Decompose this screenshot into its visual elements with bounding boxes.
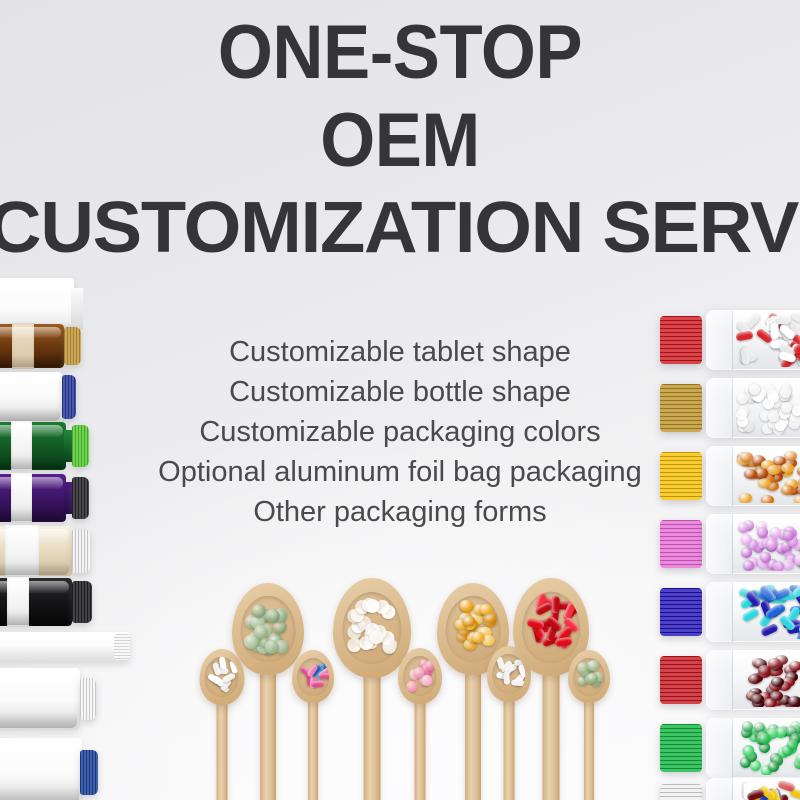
pill (319, 673, 329, 679)
pill (577, 662, 587, 672)
bottle-body (0, 422, 66, 470)
bottle-cap (72, 477, 89, 519)
pill (784, 451, 797, 461)
jar-contents (736, 585, 800, 639)
bottle-cap (72, 529, 90, 573)
jar-glass-body (706, 310, 800, 370)
bottle-body (0, 738, 82, 800)
left-bottle-amber-bottle-gold-cap (0, 324, 64, 368)
spoon-bowl (398, 648, 442, 704)
jar-cap (660, 316, 702, 364)
jar-neck (706, 650, 733, 710)
left-bottle-green-bottle-lime-cap (0, 422, 66, 470)
bottle-neck (71, 288, 83, 330)
right-jar-jar-pink-tablets (706, 514, 800, 574)
pill (742, 721, 753, 732)
jar-glass-body (706, 582, 800, 642)
pill (503, 672, 510, 685)
promotional-poster: ONE-STOP OEM CUSTOMIZATION SERVICE Custo… (0, 0, 800, 800)
bottle-label (11, 473, 31, 523)
pill (311, 681, 324, 688)
jar-cap (660, 520, 702, 568)
left-bottle-black-bottle-black-cap (0, 578, 72, 626)
pill (462, 616, 475, 627)
pill (758, 665, 771, 675)
spoon-well (342, 592, 401, 664)
jar-neck (706, 582, 733, 642)
spoon-handle (543, 666, 560, 800)
pill (741, 547, 752, 558)
pill (422, 675, 432, 685)
pill (775, 420, 786, 431)
bottle-cap (80, 750, 98, 795)
left-bottle-white-bottle-blue-cap (0, 372, 62, 422)
jar-glass-body (706, 378, 800, 438)
bottle-cap (72, 425, 89, 467)
pill (781, 402, 792, 413)
headline-line-1: ONE-STOP (28, 16, 772, 90)
spoon-mixed-capsules (292, 650, 334, 800)
jar-neck (706, 310, 733, 370)
pill (744, 469, 757, 479)
pill (781, 463, 794, 473)
jar-glass-body (706, 718, 800, 778)
jar-contents (736, 653, 800, 707)
pill (736, 330, 754, 341)
pill (588, 660, 598, 670)
left-bottle-white-tube-bottle (0, 632, 130, 662)
pill (771, 677, 784, 687)
right-jar-jar-mixed-capsules (706, 778, 800, 800)
pill (770, 322, 778, 339)
pill (788, 696, 800, 706)
pill (369, 630, 383, 644)
pill (737, 416, 748, 427)
pill (741, 347, 750, 365)
spoon-bowl (568, 650, 610, 703)
right-jar-jar-blue-cyan-capsules (706, 582, 800, 642)
spoon-handle (216, 695, 227, 800)
pill (768, 761, 779, 772)
right-jar-jar-red-white-capsules (706, 310, 800, 370)
jar-neck (706, 378, 733, 438)
pill (773, 561, 784, 571)
spoon-well (297, 657, 329, 695)
jar-contents (736, 721, 800, 775)
jar-cap (660, 656, 702, 704)
headline-line-3: CUSTOMIZATION SERVICE (0, 193, 800, 264)
pill (783, 559, 794, 570)
pill (741, 608, 760, 623)
pill (792, 405, 800, 416)
right-jar-jar-dark-red-softgels (706, 650, 800, 710)
bottle-label (12, 323, 34, 369)
pill (748, 674, 761, 684)
spoon-well (241, 596, 296, 662)
jar-contents (736, 517, 800, 571)
pill (770, 691, 783, 701)
spoon-well (403, 656, 436, 696)
pill (425, 660, 435, 670)
jar-glass-body (706, 778, 800, 800)
pill (738, 522, 749, 533)
jar-contents (736, 781, 800, 800)
jar-cap (660, 784, 702, 800)
pill (480, 604, 493, 615)
jar-neck (706, 446, 733, 506)
spoon-well (573, 657, 605, 695)
jar-glass-body (706, 446, 800, 506)
bottle-cap (72, 581, 92, 623)
jar-contents (736, 313, 800, 367)
jar-contents (736, 381, 800, 435)
pill (789, 418, 800, 429)
pill (382, 639, 396, 653)
jar-cap (660, 588, 702, 636)
jar-cap (660, 452, 702, 500)
right-jar-jar-amber-softgels (706, 446, 800, 506)
left-bottle-purple-bottle-black-cap (0, 474, 66, 522)
left-bottle-white-bottle-navy-cap (0, 738, 82, 800)
bottle-label (5, 525, 39, 577)
bottle-cap (64, 327, 81, 366)
bottle-cap (62, 375, 76, 419)
left-bottle-clear-bottle-granules (0, 526, 72, 576)
tube-body (0, 632, 130, 662)
spoon-handle (415, 694, 426, 800)
pill (382, 605, 396, 619)
right-jar-jar-white-tablets (706, 378, 800, 438)
spoon-pink-tablets (398, 648, 442, 800)
pill (414, 667, 424, 677)
pill (761, 495, 774, 503)
spoon-green-tablets-2 (568, 650, 610, 800)
right-jar-jar-green-tablets (706, 718, 800, 778)
bottle-body (0, 372, 62, 422)
pill (252, 603, 266, 617)
jar-cap (660, 724, 702, 772)
pill (743, 560, 754, 571)
pill (794, 495, 800, 503)
spoon-handle (465, 665, 481, 800)
jar-neck (706, 778, 733, 800)
pill (219, 657, 227, 669)
spoon-handle (260, 665, 276, 800)
pill (781, 485, 794, 495)
bottle-label (7, 577, 29, 627)
pill (796, 753, 800, 764)
pill (794, 554, 800, 565)
spoon-handle (308, 693, 318, 800)
pill (552, 596, 560, 613)
jar-glass-body (706, 514, 800, 574)
bottle-cap (80, 678, 96, 720)
pill (739, 493, 752, 503)
jar-cap (660, 384, 702, 432)
jar-glass-body (706, 650, 800, 710)
pill (737, 393, 748, 404)
pill (459, 600, 472, 611)
bottle-label (11, 421, 31, 471)
left-bottle-white-bottle-white-cap (0, 668, 80, 730)
jar-neck (706, 718, 733, 778)
bottle-body (0, 474, 66, 522)
jar-contents (736, 449, 800, 503)
spoon-handle (584, 693, 594, 800)
spoon-bowl (292, 650, 334, 703)
pill (743, 746, 754, 757)
pill (588, 673, 598, 683)
pill (789, 661, 800, 671)
bottle-body (0, 668, 80, 730)
headline-block: ONE-STOP OEM CUSTOMIZATION SERVICE (0, 16, 800, 263)
tube-cap (114, 634, 130, 660)
jar-neck (706, 514, 733, 574)
spoon-handle (364, 668, 381, 800)
pill (787, 739, 798, 750)
pill (763, 398, 774, 409)
pill (554, 637, 572, 647)
pill (407, 681, 417, 691)
headline-line-2: OEM (28, 104, 772, 178)
